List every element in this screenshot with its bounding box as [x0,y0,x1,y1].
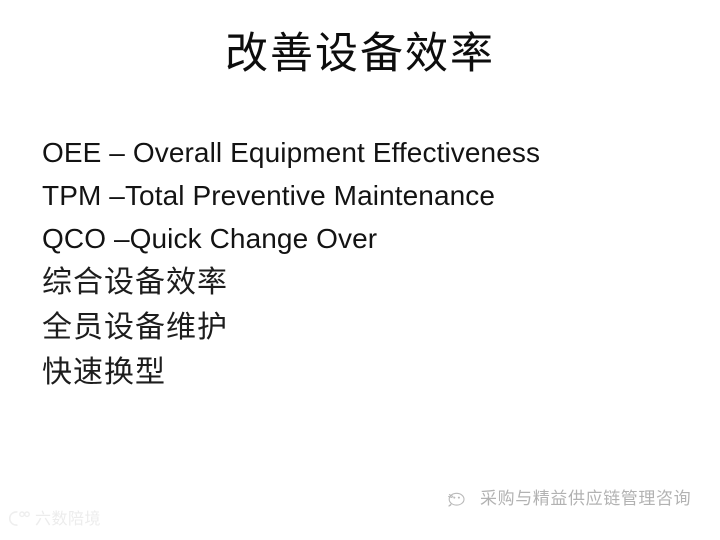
body-line-oee-chinese: 综合设备效率 [42,260,672,305]
watermark-bottom-right: 采购与精益供应链管理咨询 [447,489,691,509]
body-line-qco: QCO –Quick Change Over [42,217,672,260]
watermark-bottom-right-text: 采购与精益供应链管理咨询 [480,489,691,509]
body-line-oee: OEE – Overall Equipment Effectiveness [42,131,672,174]
wechat-bubbles-icon [447,490,473,509]
slide-title: 改善设备效率 [0,28,720,80]
body-line-qco-chinese: 快速换型 [42,350,672,395]
slide-body: OEE – Overall Equipment Effectiveness TP… [42,131,672,395]
watermark-bottom-left: 六数陪境 [9,509,101,528]
body-line-tpm: TPM –Total Preventive Maintenance [42,174,672,217]
presentation-slide: 改善设备效率 OEE – Overall Equipment Effective… [0,0,720,540]
watermark-bottom-left-text: 六数陪境 [35,509,101,528]
logo-mark-icon [9,509,31,528]
body-line-tpm-chinese: 全员设备维护 [42,305,672,350]
